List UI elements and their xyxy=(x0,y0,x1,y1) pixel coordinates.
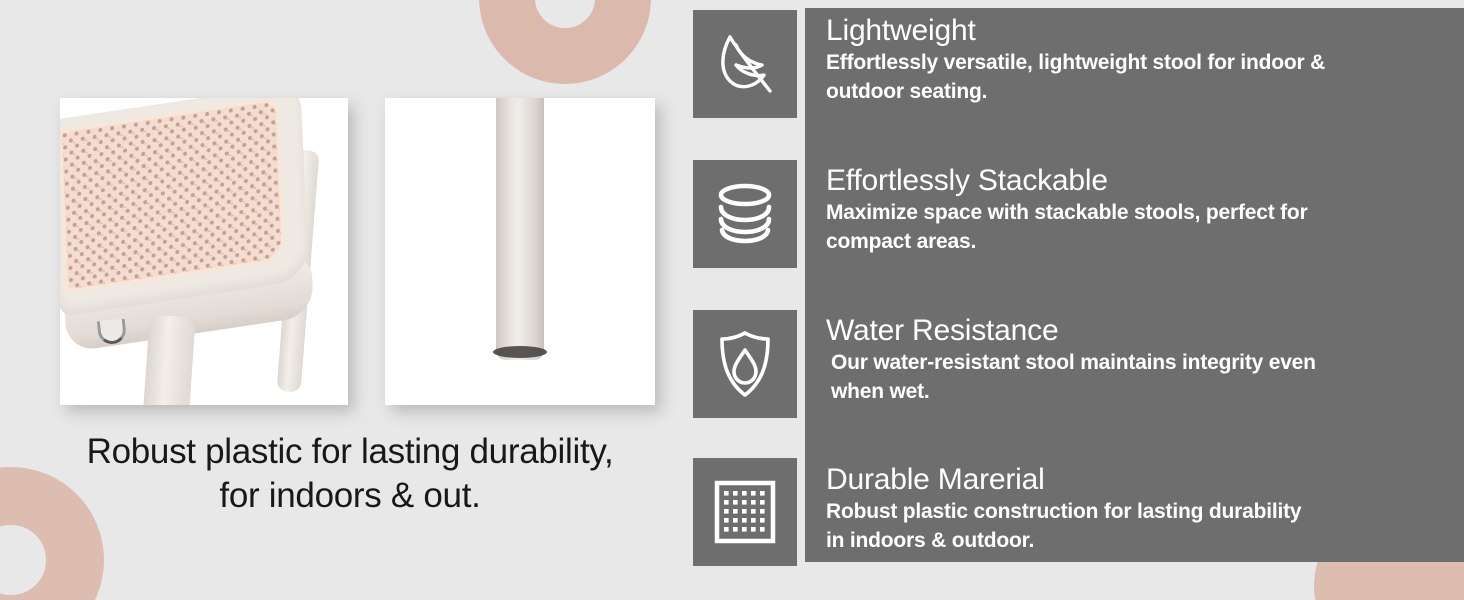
feature-icon-tile-durable-material xyxy=(693,458,797,566)
feature-title: Effortlessly Stackable xyxy=(826,164,1426,198)
stool-seat-corner-photo xyxy=(60,98,348,405)
left-caption-line-1: Robust plastic for lasting durability, xyxy=(26,430,674,474)
feature-text-water-resistance: Water Resistance Our water-resistant sto… xyxy=(826,314,1426,407)
feature-icon-tile-stackable xyxy=(693,160,797,268)
stool-leg-foot-cap xyxy=(493,346,547,358)
feature-text-lightweight: Lightweight Effortlessly versatile, ligh… xyxy=(826,14,1426,107)
feature-title: Durable Marerial xyxy=(826,463,1426,497)
left-caption-line-2: for indoors & out. xyxy=(26,474,674,518)
feature-desc-line-1: Maximize space with stackable stools, pe… xyxy=(826,199,1426,228)
feature-text-stackable: Effortlessly Stackable Maximize space wi… xyxy=(826,164,1426,257)
feature-desc-line-1: Robust plastic construction for lasting … xyxy=(826,498,1426,527)
feature-icon-tile-water-resistance xyxy=(693,310,797,418)
product-photo-column: Robust plastic for lasting durability, f… xyxy=(0,0,688,600)
feature-title: Lightweight xyxy=(826,14,1426,48)
feature-icon-tile-lightweight xyxy=(693,10,797,118)
rattan-cane-weave xyxy=(60,98,286,294)
feature-desc-line-2: when wet. xyxy=(826,378,1426,407)
stool-seat-artwork xyxy=(60,98,348,405)
product-feature-banner: Robust plastic for lasting durability, f… xyxy=(0,0,1464,600)
stool-leg-photo xyxy=(385,98,655,405)
leaf-icon xyxy=(714,31,776,97)
feature-desc-line-2: in indoors & outdoor. xyxy=(826,527,1426,556)
stool-seat-frame xyxy=(60,98,309,317)
shield-water-drop-icon xyxy=(717,329,773,399)
feature-desc-line-2: outdoor seating. xyxy=(826,78,1426,107)
feature-desc-line-2: compact areas. xyxy=(826,228,1426,257)
feature-desc-line-1: Our water-resistant stool maintains inte… xyxy=(826,349,1426,378)
left-caption: Robust plastic for lasting durability, f… xyxy=(26,430,674,518)
stacked-discs-icon xyxy=(713,183,777,245)
stool-leg-tube xyxy=(496,98,544,360)
mesh-grid-icon xyxy=(713,479,777,545)
feature-desc-line-1: Effortlessly versatile, lightweight stoo… xyxy=(826,49,1426,78)
stool-leg-artwork xyxy=(385,98,655,405)
feature-title: Water Resistance xyxy=(826,314,1426,348)
feature-text-durable-material: Durable Marerial Robust plastic construc… xyxy=(826,463,1426,556)
stool-front-leg xyxy=(142,315,195,405)
